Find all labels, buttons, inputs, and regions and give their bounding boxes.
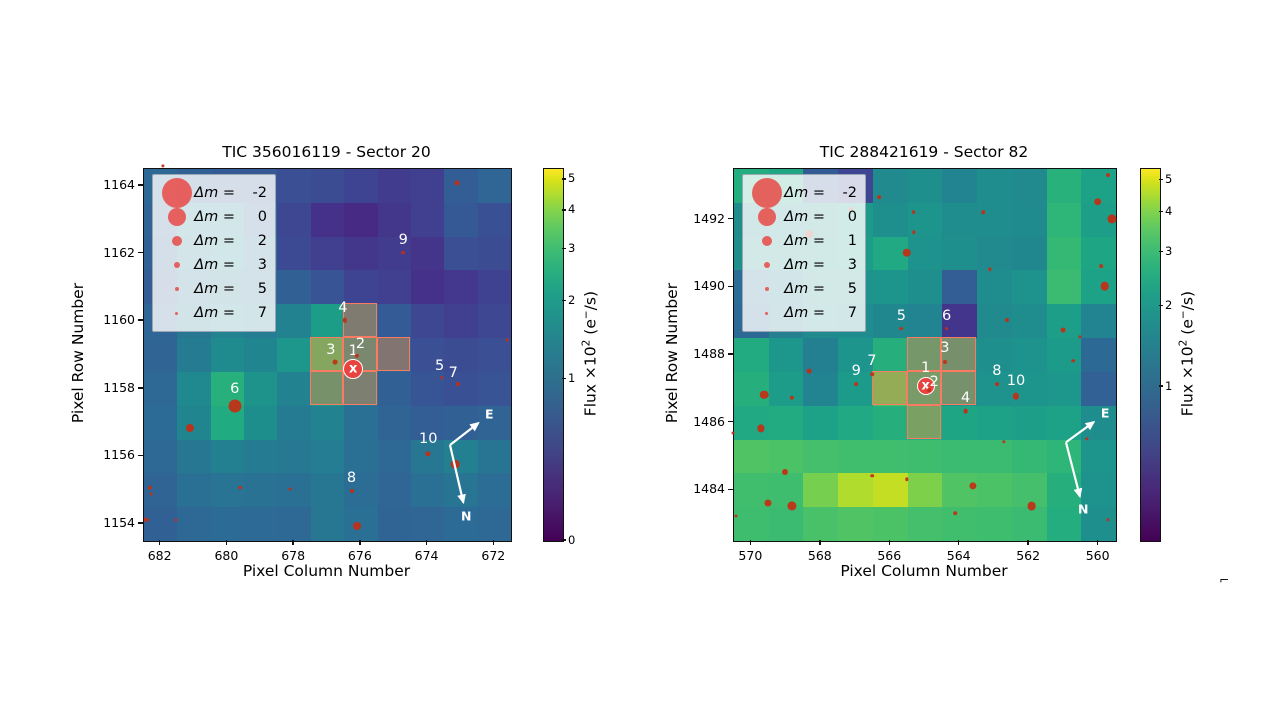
colorbar-tick-mark [1159,251,1163,252]
heatmap-cell [1012,507,1047,541]
heatmap-cell [1012,406,1047,440]
heatmap-cell [977,406,1012,440]
legend-entry-text: Δm = 1 [784,233,857,249]
heatmap-cell [977,440,1012,474]
heatmap-cell [908,237,943,271]
legend-row: Δm = 3 [749,253,857,277]
y-tick-mark [728,489,733,490]
colorbar [1140,168,1161,542]
field-source [1072,359,1076,363]
field-source [981,210,985,214]
heatmap-cell [769,406,804,440]
x-axis-label: Pixel Column Number [733,562,1115,580]
heatmap-cell [769,473,804,507]
delta-m-symbol: Δm = [784,233,825,249]
heatmap-cell [873,338,908,372]
colorbar-tick-mark [1159,305,1163,306]
heatmap-cell [734,507,769,541]
colorbar-tick-mark [1159,211,1163,212]
colorbar-label: Flux ×102 (e−/s) [1177,168,1196,540]
heatmap-cell [1012,203,1047,237]
heatmap-cell [908,304,943,338]
y-tick-mark [728,421,733,422]
field-source [1027,502,1036,511]
legend-delta-m-value: -2 [835,185,857,201]
heatmap-cell [873,406,908,440]
heatmap-cell [908,270,943,304]
heatmap-cell [942,507,977,541]
legend-marker-cell [749,178,784,208]
heatmap-cell [873,473,908,507]
field-source [764,499,771,506]
neighbour-source [900,327,904,331]
heatmap-cell [977,507,1012,541]
y-tick-mark [728,218,733,219]
heatmap-cell [803,338,838,372]
y-tick-mark [728,353,733,354]
field-source [953,511,957,515]
legend-marker-cell [749,312,784,315]
x-tick-label: 566 [861,548,917,563]
source-label: 10 [1007,373,1025,389]
legend-dot-icon [765,287,769,291]
delta-m-symbol: Δm = [784,281,825,297]
legend-dot-icon [752,178,782,208]
aperture-pixel [872,371,907,405]
field-source [902,248,911,257]
y-tick-label: 1488 [675,346,725,361]
heatmap-cell [1081,270,1116,304]
legend-delta-m-value: 0 [835,209,857,225]
heatmap-cell [838,440,873,474]
heatmap-cell [769,440,804,474]
heatmap-cell [977,270,1012,304]
heatmap-cell [977,473,1012,507]
legend-entry-text: Δm = 3 [784,257,857,273]
heatmap-cell [942,440,977,474]
neighbour-source [943,360,947,364]
source-label: 7 [867,353,876,369]
heatmap-cell [1081,338,1116,372]
heatmap-cell [873,270,908,304]
field-source [870,474,874,478]
heatmap-cell [1047,169,1082,203]
heatmap-cell [873,203,908,237]
heatmap-cell [734,406,769,440]
panel-title: TIC 288421619 - Sector 82 [733,143,1115,161]
legend-dot-icon [758,208,776,226]
compass-north-label: N [1078,502,1088,517]
legend-delta-m-value: 1 [835,233,857,249]
legend-dot-icon [764,262,770,268]
colorbar-tick-label: 4 [1165,204,1172,218]
heatmap-cell [1081,304,1116,338]
legend-row: Δm = 0 [749,205,857,229]
source-label: 8 [992,363,1001,379]
x-tick-label: 562 [1000,548,1056,563]
colorbar-tick-label: 3 [1165,244,1172,258]
legend-entry-text: Δm = 5 [784,281,857,297]
colorbar-tick-label: 5 [1165,172,1172,186]
heatmap-cell [942,169,977,203]
field-source [732,432,735,435]
field-source [1106,173,1110,177]
y-tick-label: 1484 [675,481,725,496]
legend-marker-cell [749,287,784,291]
legend-row: Δm = 7 [749,301,857,325]
x-tick-mark [750,540,751,545]
field-source [1061,328,1066,333]
heatmap-cell [977,203,1012,237]
heatmap-cell [838,473,873,507]
field-source [1005,318,1009,322]
x-tick-label: 560 [1070,548,1126,563]
figure-canvas: TIC 356016119 - Sector 20x12345678910ENΔ… [0,0,1277,720]
legend-row: Δm = 5 [749,277,857,301]
colorbar-tick-label: 2 [1165,298,1172,312]
heatmap-cell [873,507,908,541]
heatmap-cell [977,169,1012,203]
heatmap-cell [1047,237,1082,271]
legend-marker-cell [749,262,784,268]
colorbar-tick-mark [1159,179,1163,180]
colorbar-tick-label: 1 [1165,379,1172,393]
legend-entry-text: Δm = 0 [784,209,857,225]
neighbour-source [945,327,949,331]
heatmap-cell [908,507,943,541]
heatmap-cell [803,440,838,474]
legend-marker-cell [749,236,784,246]
colorbar-tick-mark [1159,385,1163,386]
x-tick-mark [1027,540,1028,545]
heatmap-cell [803,473,838,507]
heatmap-cell [1047,203,1082,237]
heatmap-cell [803,406,838,440]
heatmap-cell [1047,304,1082,338]
x-tick-mark [958,540,959,545]
legend-entry-text: Δm = 7 [784,305,857,321]
delta-m-symbol: Δm = [784,305,825,321]
neighbour-source [854,383,858,387]
heatmap-cell [803,507,838,541]
aperture-pixel [907,405,942,439]
field-source [760,390,769,399]
y-axis-label: Pixel Row Number [663,167,681,539]
heatmap-cell [873,440,908,474]
x-tick-label: 564 [931,548,987,563]
heatmap-cell [908,473,943,507]
y-tick-mark [728,286,733,287]
source-label: 5 [897,308,906,324]
legend-dot-icon [762,236,772,246]
legend-delta-m-value: 7 [835,305,857,321]
legend-row: Δm = 1 [749,229,857,253]
source-label: 9 [852,363,861,379]
field-source [1094,198,1102,206]
field-source [1099,264,1103,268]
heatmap-cell [1012,338,1047,372]
heatmap-cell [908,169,943,203]
heatmap-cell [769,372,804,406]
field-source [877,195,881,199]
field-source [912,210,916,214]
heatmap-cell [769,507,804,541]
legend-entry-text: Δm = -2 [784,185,857,201]
magnitude-legend: Δm = -2Δm = 0Δm = 1Δm = 3Δm = 5Δm = 7 [742,174,866,332]
heatmap-cell [1012,237,1047,271]
legend-delta-m-value: 3 [835,257,857,273]
neighbour-source [870,372,874,376]
source-label: 6 [942,308,951,324]
heatmap-cell [734,372,769,406]
legend-delta-m-value: 5 [835,281,857,297]
heatmap-cell [942,237,977,271]
heatmap-cell [908,440,943,474]
heatmap-cell [1047,270,1082,304]
field-source [807,369,812,374]
neighbour-source [995,383,999,387]
y-tick-label: 1486 [675,414,725,429]
compass-east-label: E [1101,405,1110,420]
heatmap-cell [942,473,977,507]
heatmap-cell [734,338,769,372]
stray-mark: ⌐ [1219,573,1229,587]
heatmap-cell [977,237,1012,271]
compass-rose: EN [1046,402,1122,524]
heatmap-cell [803,372,838,406]
panel-right: TIC 288421619 - Sector 82x12345678910ENΔ… [0,0,1277,720]
aperture-pixel [941,371,976,405]
field-source [735,515,738,518]
x-tick-mark [889,540,890,545]
heatmap-cell [734,440,769,474]
x-tick-label: 570 [722,548,778,563]
heatmap-cell [942,270,977,304]
heatmap-cell [1012,270,1047,304]
legend-marker-cell [749,208,784,226]
neighbour-source [963,409,968,414]
legend-dot-icon [765,312,768,315]
heatmap-cell [838,507,873,541]
heatmap-cell [942,203,977,237]
delta-m-symbol: Δm = [784,257,825,273]
x-tick-mark [1097,540,1098,545]
heatmap-cell [1012,304,1047,338]
source-label: 3 [940,340,949,356]
y-tick-label: 1490 [675,278,725,293]
heatmap-cell [1012,440,1047,474]
heatmap-cell [1047,338,1082,372]
source-label: 2 [930,374,939,390]
heatmap-cell [942,406,977,440]
delta-m-symbol: Δm = [784,185,825,201]
y-tick-label: 1492 [675,211,725,226]
delta-m-symbol: Δm = [784,209,825,225]
legend-row: Δm = -2 [749,181,857,205]
heatmap-cell [1012,169,1047,203]
source-label: 4 [961,390,970,406]
x-tick-label: 568 [792,548,848,563]
field-source [1100,282,1109,291]
x-tick-mark [819,540,820,545]
heatmap-cell [769,338,804,372]
field-source [782,469,788,475]
heatmap-cell [838,406,873,440]
